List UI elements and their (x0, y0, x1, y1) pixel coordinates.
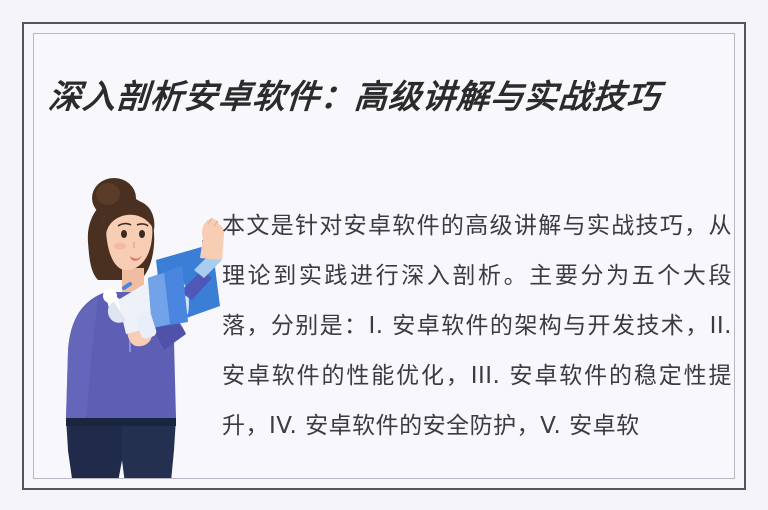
eye-right (139, 230, 145, 238)
card-inner-border: 深入剖析安卓软件：高级讲解与实战技巧 (33, 33, 735, 479)
article-card-page: 深入剖析安卓软件：高级讲解与实战技巧 (0, 0, 768, 510)
illustration-woman-with-megaphone (52, 174, 224, 479)
page-title: 深入剖析安卓软件：高级讲解与实战技巧 (47, 74, 735, 120)
article-body-text: 本文是针对安卓软件的高级讲解与实战技巧，从理论到实践进行深入剖析。主要分为五个大… (222, 201, 732, 451)
card-outer-border: 深入剖析安卓软件：高级讲解与实战技巧 (22, 22, 746, 490)
eye-left (121, 230, 127, 238)
